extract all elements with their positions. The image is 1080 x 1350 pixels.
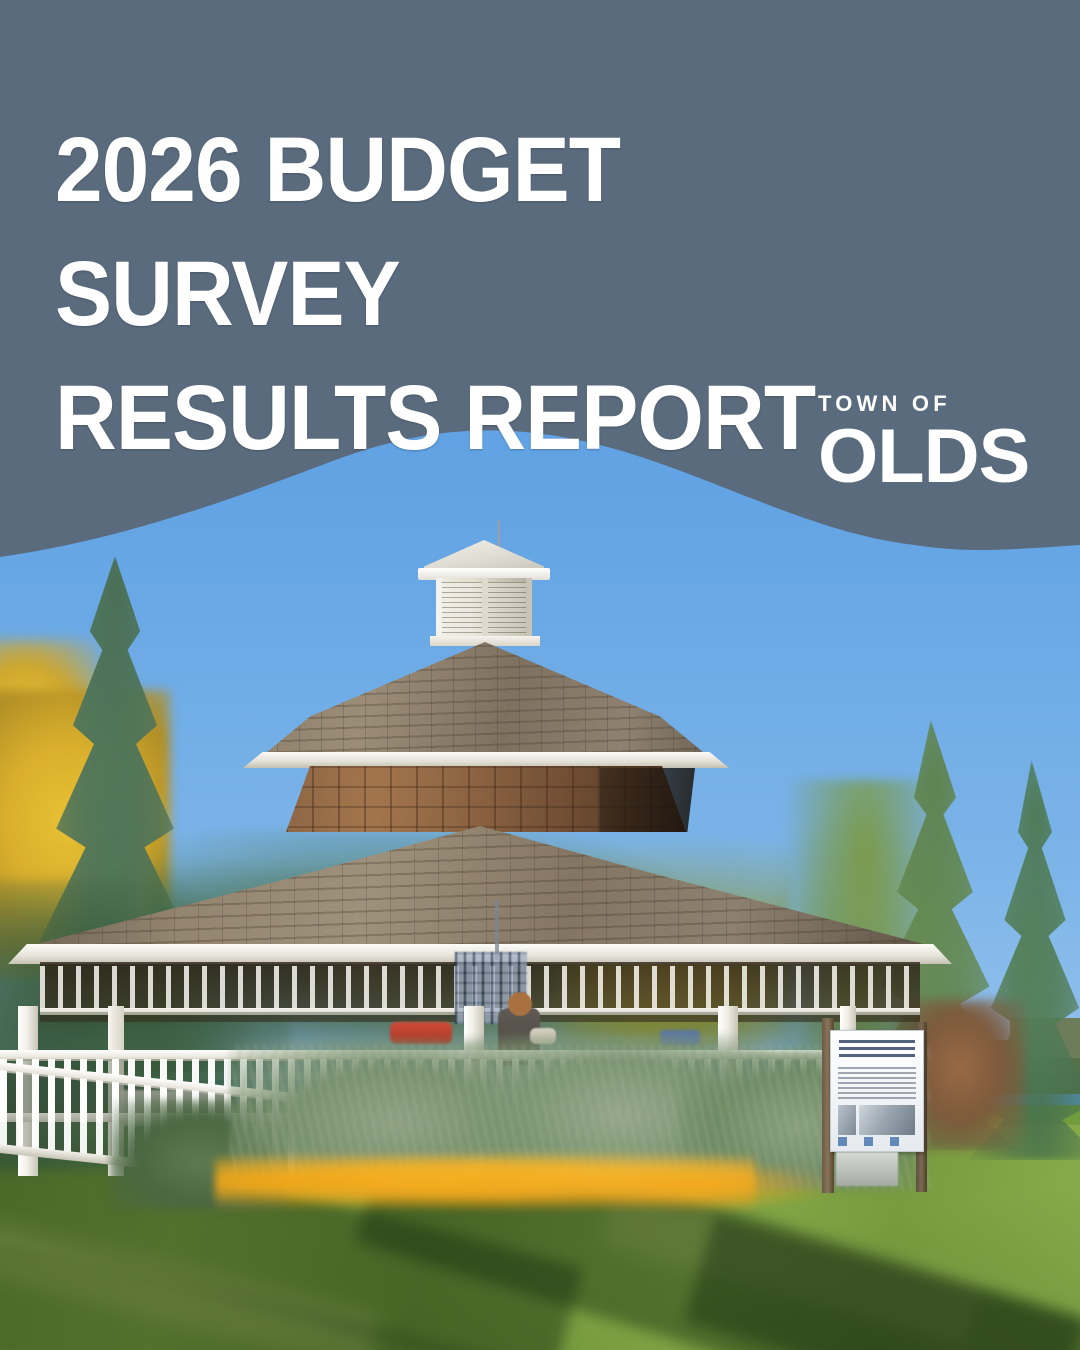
town-of-olds-logo: TOWN OF OLDS bbox=[818, 392, 1048, 494]
upper-roof-trim bbox=[243, 752, 729, 768]
cupola-post bbox=[436, 578, 442, 640]
sign-logos bbox=[838, 1137, 916, 1146]
cupola-post bbox=[482, 578, 488, 640]
flower-bed-secondary bbox=[560, 1160, 840, 1210]
person-head bbox=[508, 992, 532, 1016]
budget-survey-report-cover: 2026 BUDGET SURVEY RESULTS REPORT TOWN O… bbox=[0, 0, 1080, 1350]
main-shingle-roof bbox=[30, 826, 930, 956]
cupola-post bbox=[526, 578, 532, 640]
background-tower bbox=[495, 900, 499, 960]
header-content: 2026 BUDGET SURVEY RESULTS REPORT TOWN O… bbox=[0, 0, 1080, 520]
sign-heading bbox=[839, 1040, 915, 1060]
sign-photo bbox=[859, 1105, 915, 1135]
sign-body-text bbox=[838, 1067, 916, 1101]
shake-band-shadow bbox=[600, 768, 695, 832]
sign-photo-small bbox=[838, 1105, 856, 1135]
logo-olds-wordmark: OLDS bbox=[818, 420, 1053, 494]
utility-box bbox=[836, 1152, 898, 1186]
cupola-finial bbox=[498, 520, 500, 548]
logo-town-of-label: TOWN OF bbox=[818, 392, 1048, 416]
interpretive-sign bbox=[830, 1030, 924, 1152]
upper-shingle-roof bbox=[255, 642, 715, 762]
